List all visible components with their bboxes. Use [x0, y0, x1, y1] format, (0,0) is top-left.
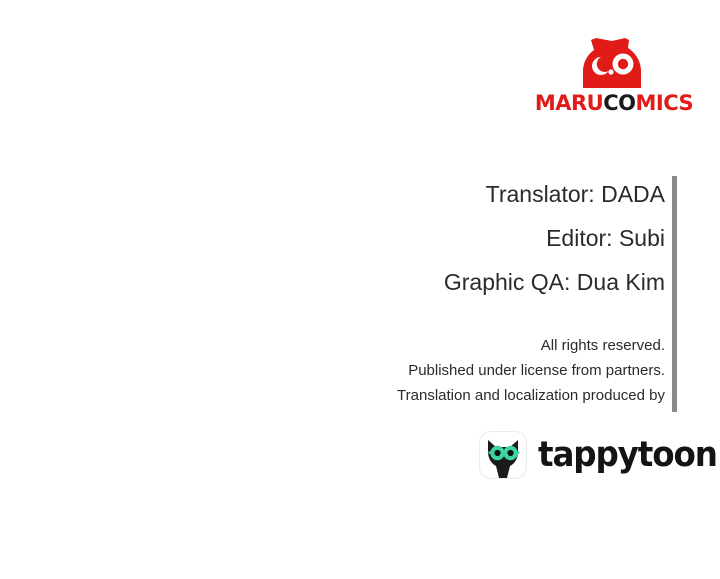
- credit-line-graphic-qa: Graphic QA: Dua Kim: [250, 260, 665, 304]
- vertical-rule: [672, 176, 677, 412]
- credits-page: MARU CO MICS Translator: DADA Editor: Su…: [0, 0, 720, 579]
- wordmark-part-maru: MARU: [535, 93, 603, 114]
- credit-line-editor: Editor: Subi: [250, 216, 665, 260]
- tappytoon-logo: tappytoon: [479, 430, 674, 480]
- cat-with-glasses-icon: [479, 431, 527, 479]
- maru-comics-wordmark: MARU CO MICS: [548, 91, 680, 115]
- credit-line-translator: Translator: DADA: [250, 172, 665, 216]
- maru-comics-logo: MARU CO MICS: [548, 38, 680, 116]
- wordmark-part-co: CO: [603, 93, 635, 114]
- legal-line-rights: All rights reserved.: [230, 333, 665, 358]
- legal-block: All rights reserved. Published under lic…: [230, 333, 665, 408]
- legal-line-license: Published under license from partners.: [230, 358, 665, 383]
- credits-block: Translator: DADA Editor: Subi Graphic QA…: [250, 172, 665, 304]
- legal-line-localization: Translation and localization produced by: [230, 383, 665, 408]
- wordmark-part-mics: MICS: [636, 93, 694, 114]
- tappytoon-wordmark: tappytoon: [538, 438, 717, 473]
- owl-head-icon: [581, 38, 643, 90]
